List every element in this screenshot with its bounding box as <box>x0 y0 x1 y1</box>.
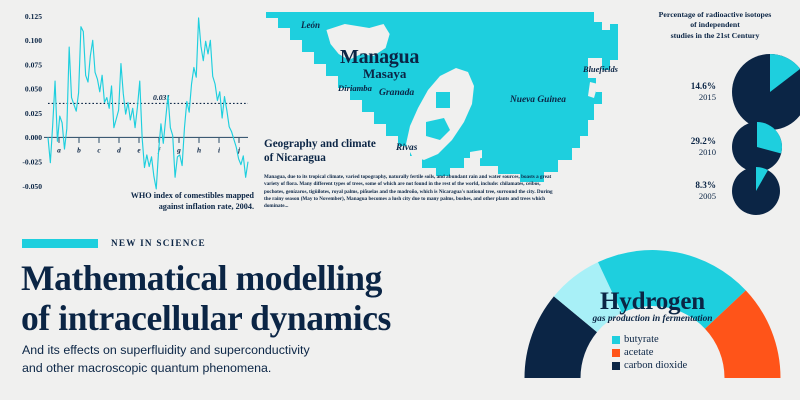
y-tick-label: -0.025 <box>22 158 42 167</box>
chart-caption: WHO index of comestibles mapped against … <box>108 190 254 212</box>
map-label-rivas: Rivas <box>396 143 417 153</box>
pie-chart <box>730 165 782 217</box>
page-title-line-2: of intracellular dynamics <box>21 298 491 338</box>
geography-title-line-1: Geography and climate <box>264 138 376 152</box>
y-tick-label: -0.050 <box>22 182 42 191</box>
legend-label: acetate <box>624 347 720 359</box>
kicker-label: NEW IN SCIENCE <box>111 238 206 248</box>
legend-label: carbon dioxide <box>624 360 720 372</box>
y-tick-label: 0.025 <box>25 109 42 118</box>
y-tick-label: 0.050 <box>25 85 42 94</box>
page-title: Mathematical modelling of intracellular … <box>21 258 491 338</box>
pie-title-line-1: Percentage of radioactive isotopes <box>636 10 794 20</box>
page-subtitle: And its effects on superfluidity and sup… <box>22 342 442 377</box>
x-tick-label: a <box>57 145 61 154</box>
x-axis-tick-labels: abcdefghij <box>57 137 241 154</box>
pie-percent-label: 8.3% <box>630 180 716 191</box>
kicker-bar-decoration <box>22 239 98 248</box>
x-tick-label: d <box>117 145 121 154</box>
legend-swatch <box>612 336 620 344</box>
pie-year-label: 2005 <box>630 191 716 202</box>
x-tick-label: i <box>218 145 221 154</box>
y-tick-label: 0.075 <box>25 60 42 69</box>
map-island-1 <box>436 92 450 108</box>
legend-swatch <box>612 349 620 357</box>
x-tick-label: g <box>176 145 181 154</box>
donut-subtitle: gas production in fermentation <box>505 314 800 324</box>
pie-row-labels: 29.2%2010 <box>630 136 716 158</box>
legend-item: carbon dioxide <box>585 360 720 372</box>
page-subtitle-line-1: And its effects on superfluidity and sup… <box>22 342 442 360</box>
donut-title: Hydrogen <box>505 288 800 316</box>
geography-body-lead: Managua <box>264 174 285 180</box>
y-tick-label: 0.100 <box>25 36 42 45</box>
kicker: NEW IN SCIENCE <box>22 238 206 248</box>
map-label-nueva-guinea: Nueva Guinea <box>510 95 566 105</box>
pie-year-label: 2010 <box>630 147 716 158</box>
geography-body-rest: , due to its tropical climate, varied to… <box>264 174 553 209</box>
x-tick-label: c <box>97 145 101 154</box>
pie-row: 8.3%2005 <box>630 165 782 217</box>
line-chart-panel: 0.1250.1000.0750.0500.0250.000-0.025-0.0… <box>0 0 258 222</box>
x-tick-label: h <box>197 145 201 154</box>
map-label-bluefields: Bluefields <box>583 65 618 74</box>
x-tick-label: b <box>77 145 81 154</box>
legend-item: acetate <box>585 347 720 359</box>
y-tick-label: 0.000 <box>25 133 42 142</box>
page-subtitle-line-2: and other macroscopic quantum phenomena. <box>22 360 442 378</box>
map-label-diriamba: Diriamba <box>338 83 372 93</box>
y-axis-tick-labels: 0.1250.1000.0750.0500.0250.000-0.025-0.0… <box>22 12 42 191</box>
pie-title-line-3: studies in the 21st Century <box>636 31 794 41</box>
legend-label: butyrate <box>624 334 720 346</box>
hydrogen-donut-panel: Hydrogen gas production in fermentation … <box>505 226 800 400</box>
y-tick-label: 0.125 <box>25 12 42 21</box>
pie-percent-label: 29.2% <box>630 136 716 147</box>
map-label-masaya: Masaya <box>363 66 406 82</box>
donut-legend: butyrateacetatecarbon dioxide <box>505 334 800 373</box>
pie-title-line-2: of independent <box>636 20 794 30</box>
map-label-leon: León <box>301 20 320 30</box>
pie-row-labels: 8.3%2005 <box>630 180 716 202</box>
page-title-line-1: Mathematical modelling <box>21 258 491 298</box>
chart-caption-line-1: WHO index of comestibles mapped <box>108 190 254 201</box>
geography-title-line-2: of Nicaragua <box>264 152 376 166</box>
geography-body-text: Managua, due to its tropical climate, va… <box>264 174 554 210</box>
chart-caption-line-2: against inflation rate, 2004. <box>108 201 254 212</box>
map-label-granada: Granada <box>379 87 414 98</box>
pie-chart-panel: Percentage of radioactive isotopes of in… <box>630 0 800 200</box>
headline-panel: NEW IN SCIENCE Mathematical modelling of… <box>0 226 505 400</box>
pie-year-label: 2015 <box>630 92 716 103</box>
geography-section-title: Geography and climate of Nicaragua <box>264 138 376 165</box>
legend-item: butyrate <box>585 334 720 346</box>
map-panel: León Managua Masaya Diriamba Granada Riv… <box>258 0 630 232</box>
pie-percent-label: 14.6% <box>630 81 716 92</box>
infographic-page: 0.1250.1000.0750.0500.0250.000-0.025-0.0… <box>0 0 800 400</box>
pie-row-labels: 14.6%2015 <box>630 81 716 103</box>
legend-swatch <box>612 362 620 370</box>
pie-panel-title: Percentage of radioactive isotopes of in… <box>636 10 794 41</box>
x-tick-label: e <box>137 145 141 154</box>
line-chart-svg: 0.1250.1000.0750.0500.0250.000-0.025-0.0… <box>0 0 258 222</box>
